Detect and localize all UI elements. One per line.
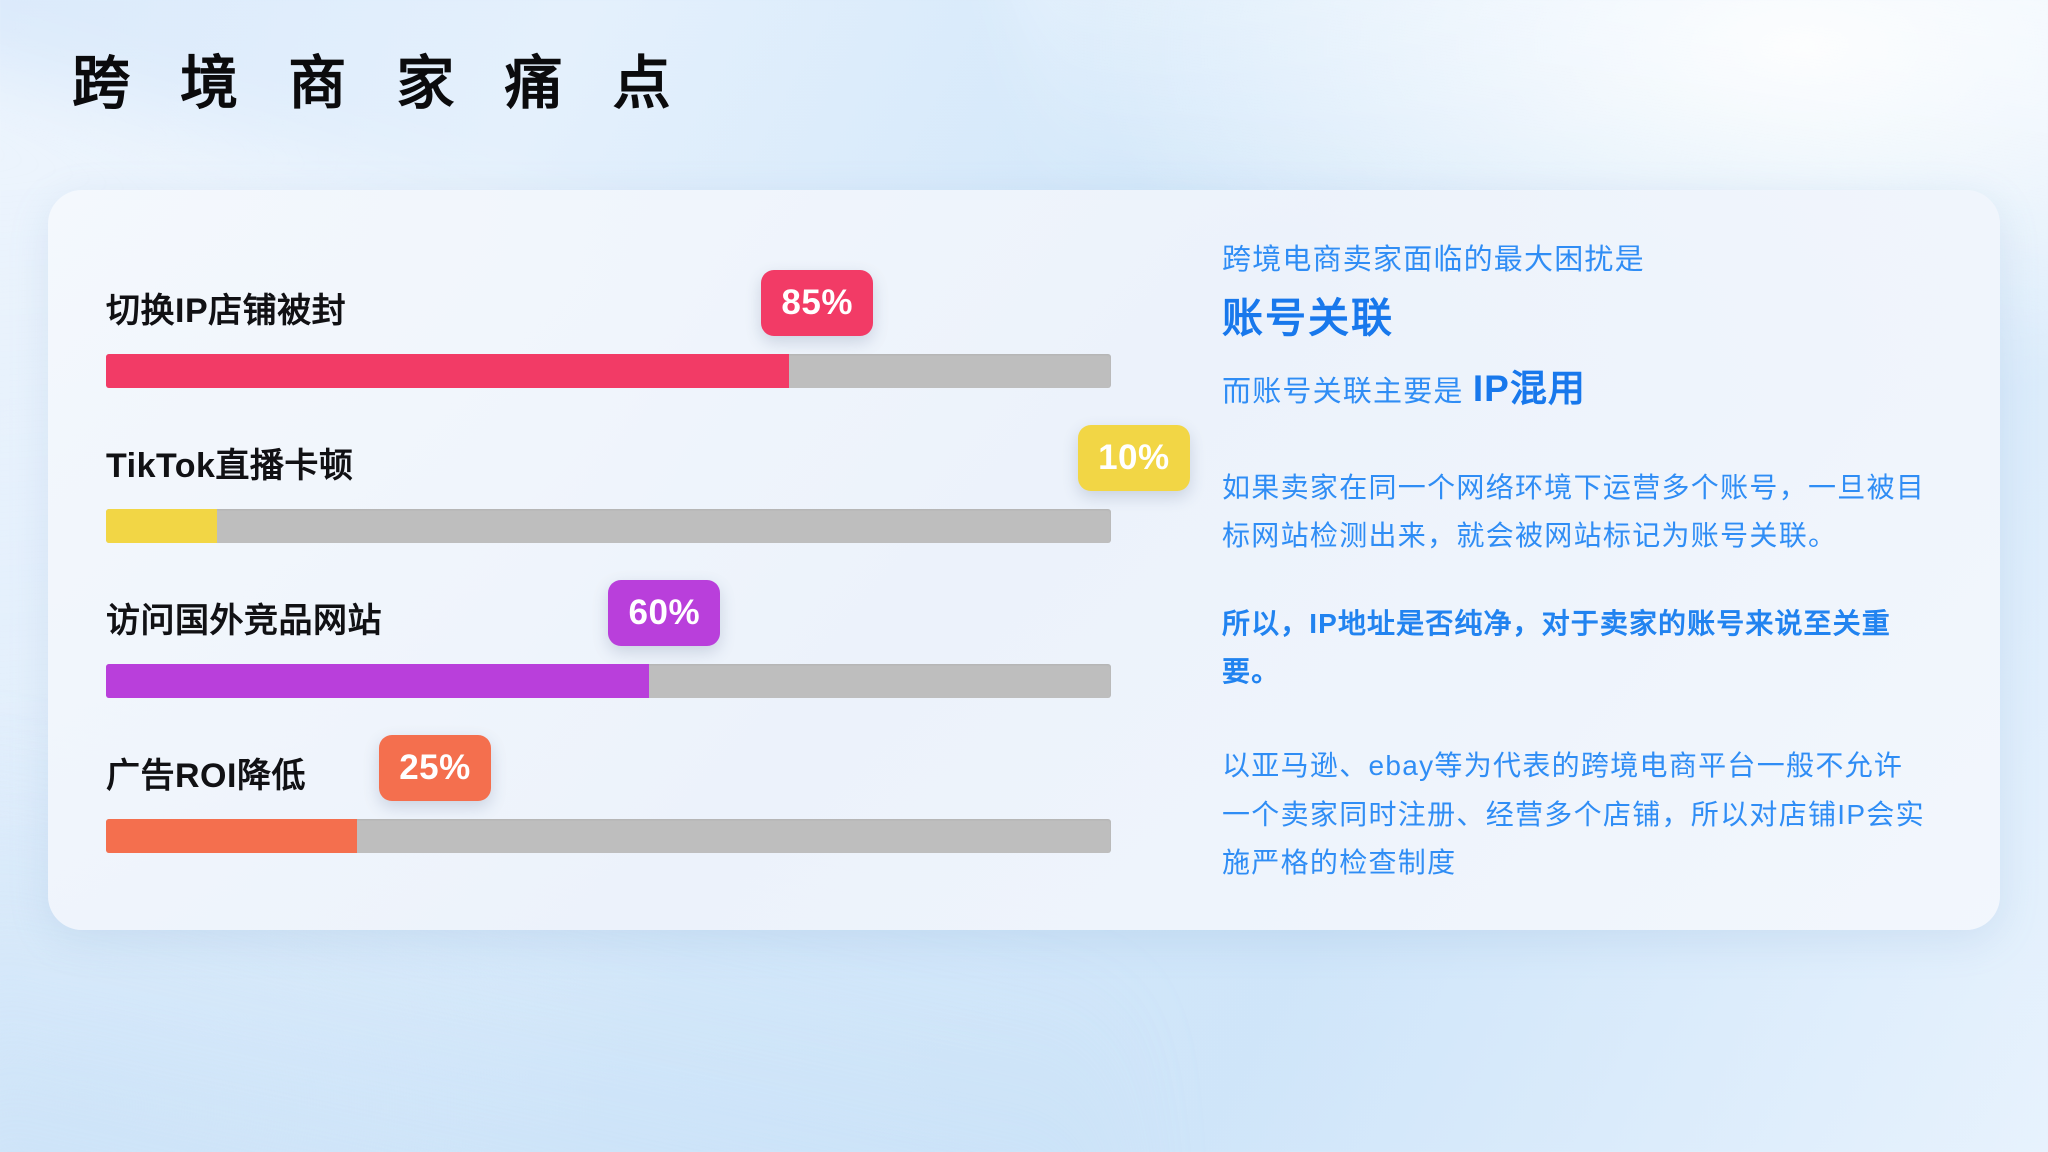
bar-label: 切换IP店铺被封 [106, 294, 346, 336]
bar-fill [106, 664, 649, 698]
bar-value-badge: 60% [608, 580, 720, 646]
bar-track [106, 664, 1111, 698]
bar-fill [106, 819, 357, 853]
subline-prefix: 而账号关联主要是 [1222, 376, 1473, 408]
bar-row: 访问国外竞品网站 60% [106, 562, 1198, 717]
page-title: 跨 境 商 家 痛 点 [72, 52, 688, 117]
bar-fill [106, 354, 789, 388]
paragraph-2: 所以，IP地址是否纯净，对于卖家的账号来说至关重要。 [1222, 600, 1930, 696]
bar-row: TikTok直播卡顿 10% [106, 407, 1198, 562]
bar-label: TikTok直播卡顿 [106, 449, 353, 491]
bar-track [106, 819, 1111, 853]
bar-header: TikTok直播卡顿 10% [106, 407, 1198, 491]
headline-text: 账号关联 [1222, 289, 1930, 348]
spacer [1222, 696, 1930, 742]
bar-header: 访问国外竞品网站 60% [106, 562, 1198, 646]
bar-value-badge: 85% [761, 270, 873, 336]
content-card: 切换IP店铺被封 85% TikTok直播卡顿 10% 访问国外竞品网站 60% [48, 190, 2000, 930]
bar-label: 访问国外竞品网站 [106, 604, 382, 646]
bar-row: 广告ROI降低 25% [106, 717, 1198, 872]
bar-header: 广告ROI降低 25% [106, 717, 1198, 801]
bar-value-badge: 25% [379, 735, 491, 801]
spacer [1222, 560, 1930, 600]
bar-track [106, 354, 1111, 388]
subline-text: 而账号关联主要是 IP混用 [1222, 360, 1930, 417]
subline-strong: IP混用 [1473, 368, 1586, 409]
bar-track [106, 509, 1111, 543]
pain-point-chart: 切换IP店铺被封 85% TikTok直播卡顿 10% 访问国外竞品网站 60% [48, 190, 1198, 930]
bar-value-badge: 10% [1078, 425, 1190, 491]
paragraph-3: 以亚马逊、ebay等为代表的跨境电商平台一般不允许一个卖家同时注册、经营多个店铺… [1222, 742, 1930, 886]
explanation-panel: 跨境电商卖家面临的最大困扰是 账号关联 而账号关联主要是 IP混用 如果卖家在同… [1198, 190, 2000, 930]
paragraph-1: 如果卖家在同一个网络环境下运营多个账号，一旦被目标网站检测出来，就会被网站标记为… [1222, 464, 1930, 560]
intro-text: 跨境电商卖家面临的最大困扰是 [1222, 238, 1930, 283]
bar-header: 切换IP店铺被封 85% [106, 252, 1198, 336]
spacer [1222, 418, 1930, 464]
bar-row: 切换IP店铺被封 85% [106, 252, 1198, 407]
bar-label: 广告ROI降低 [106, 759, 306, 801]
bar-fill [106, 509, 217, 543]
